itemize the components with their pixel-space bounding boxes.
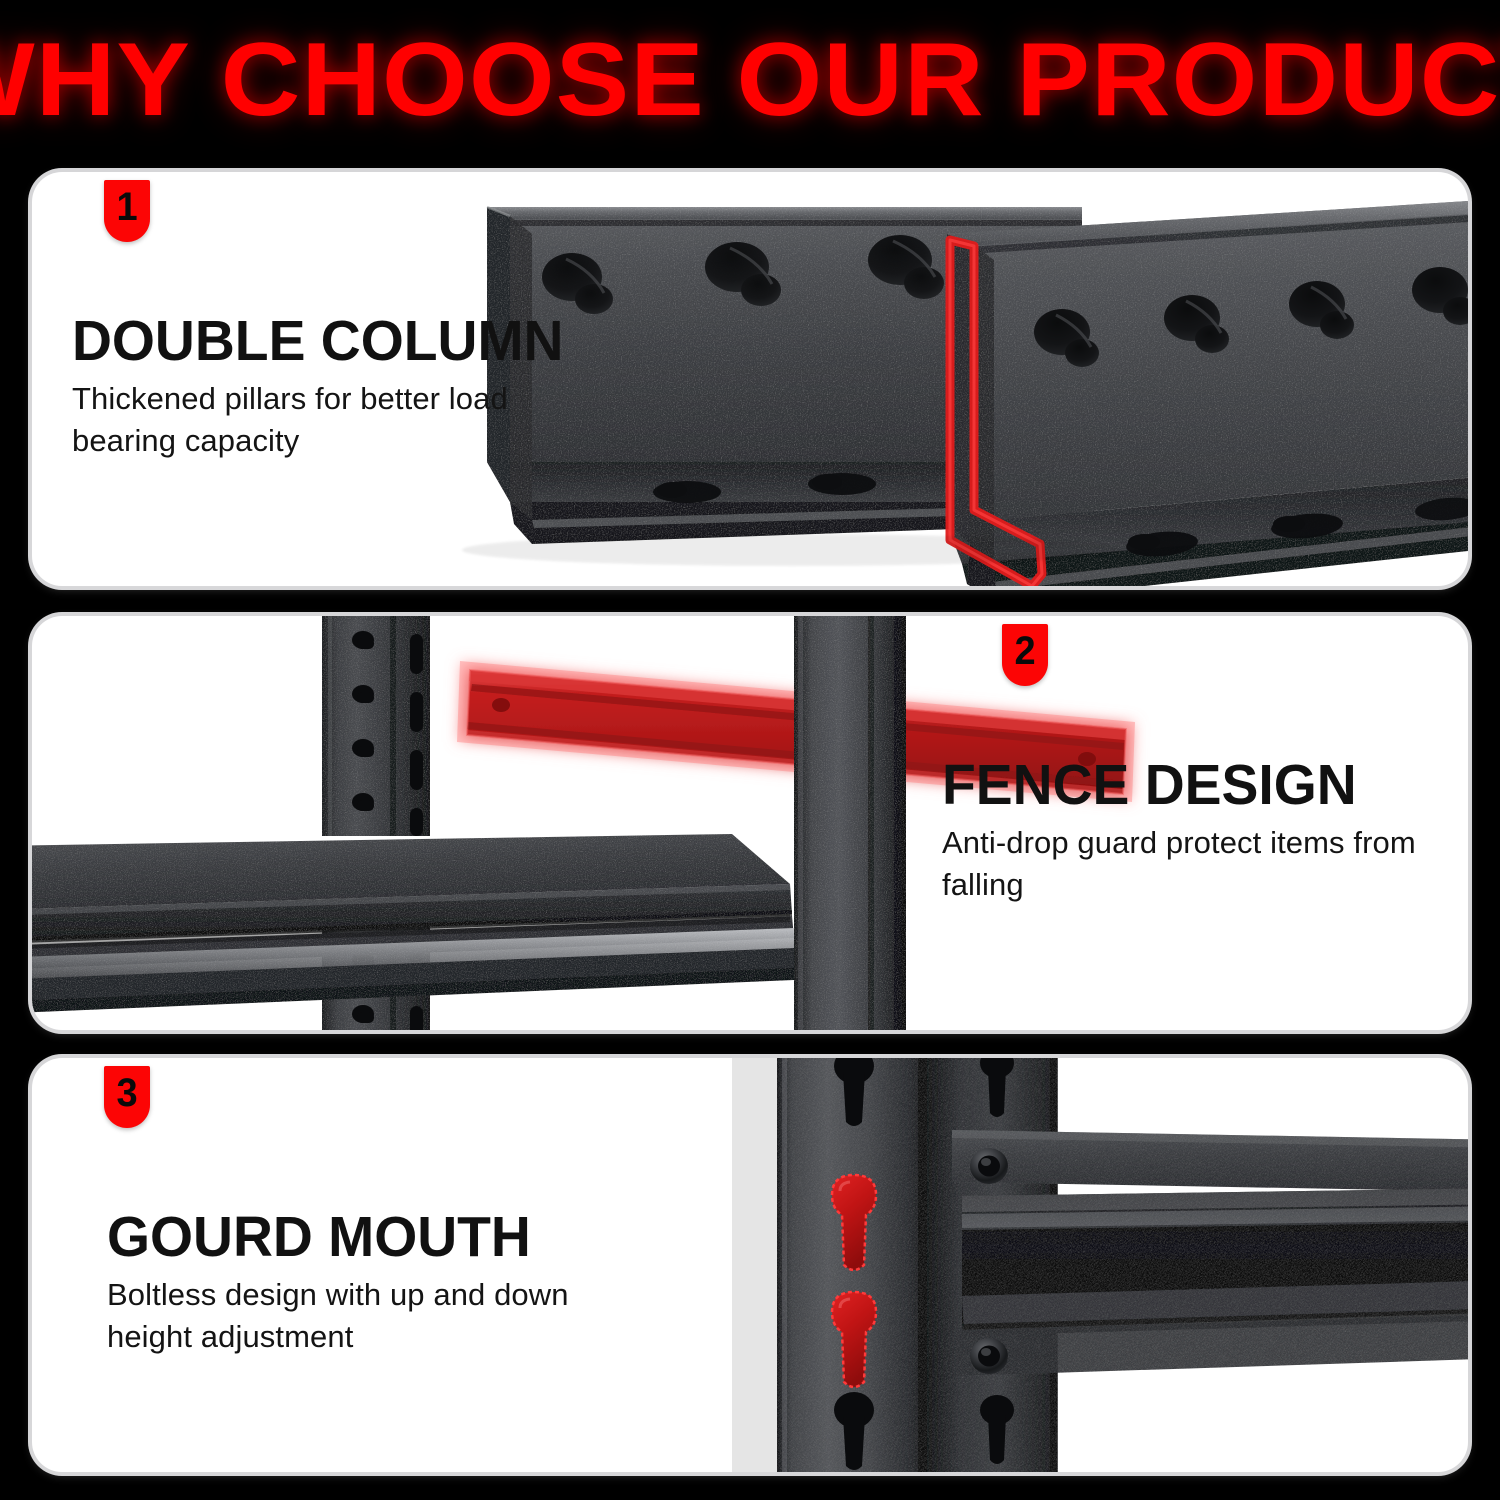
infographic-page: WHY CHOOSE OUR PRODUCT (0, 0, 1500, 1500)
header-banner: WHY CHOOSE OUR PRODUCT (0, 0, 1500, 160)
feature-3-heading: GOURD MOUTH (107, 1208, 563, 1266)
badge-number-3: 3 (116, 1073, 137, 1113)
feature-number-badge-2: 2 (1002, 624, 1048, 686)
page-title: WHY CHOOSE OUR PRODUCT (0, 28, 1500, 132)
feature-number-badge-1: 1 (104, 180, 150, 242)
feature-3-text: GOURD MOUTH Boltless design with up and … (107, 1208, 577, 1358)
feature-3-body: Boltless design with up and down height … (107, 1274, 577, 1358)
feature-2-heading: FENCE DESIGN (942, 756, 1427, 814)
badge-number-2: 2 (1014, 631, 1035, 671)
badge-number-1: 1 (116, 187, 137, 227)
feature-1-text: DOUBLE COLUMN Thickened pillars for bett… (72, 312, 532, 462)
feature-2-body: Anti-drop guard protect items from falli… (942, 822, 1442, 906)
feature-1-heading: DOUBLE COLUMN (72, 312, 518, 370)
feature-number-badge-3: 3 (104, 1066, 150, 1128)
feature-2-text: FENCE DESIGN Anti-drop guard protect ite… (942, 756, 1442, 906)
feature-panel-3: 3 GOURD MOUTH Boltless design with up an… (32, 1058, 1468, 1472)
feature-panel-2: 2 FENCE DESIGN Anti-drop guard protect i… (32, 616, 1468, 1030)
feature-panel-1: 1 DOUBLE COLUMN Thickened pillars for be… (32, 172, 1468, 586)
feature-1-body: Thickened pillars for better load bearin… (72, 378, 532, 462)
